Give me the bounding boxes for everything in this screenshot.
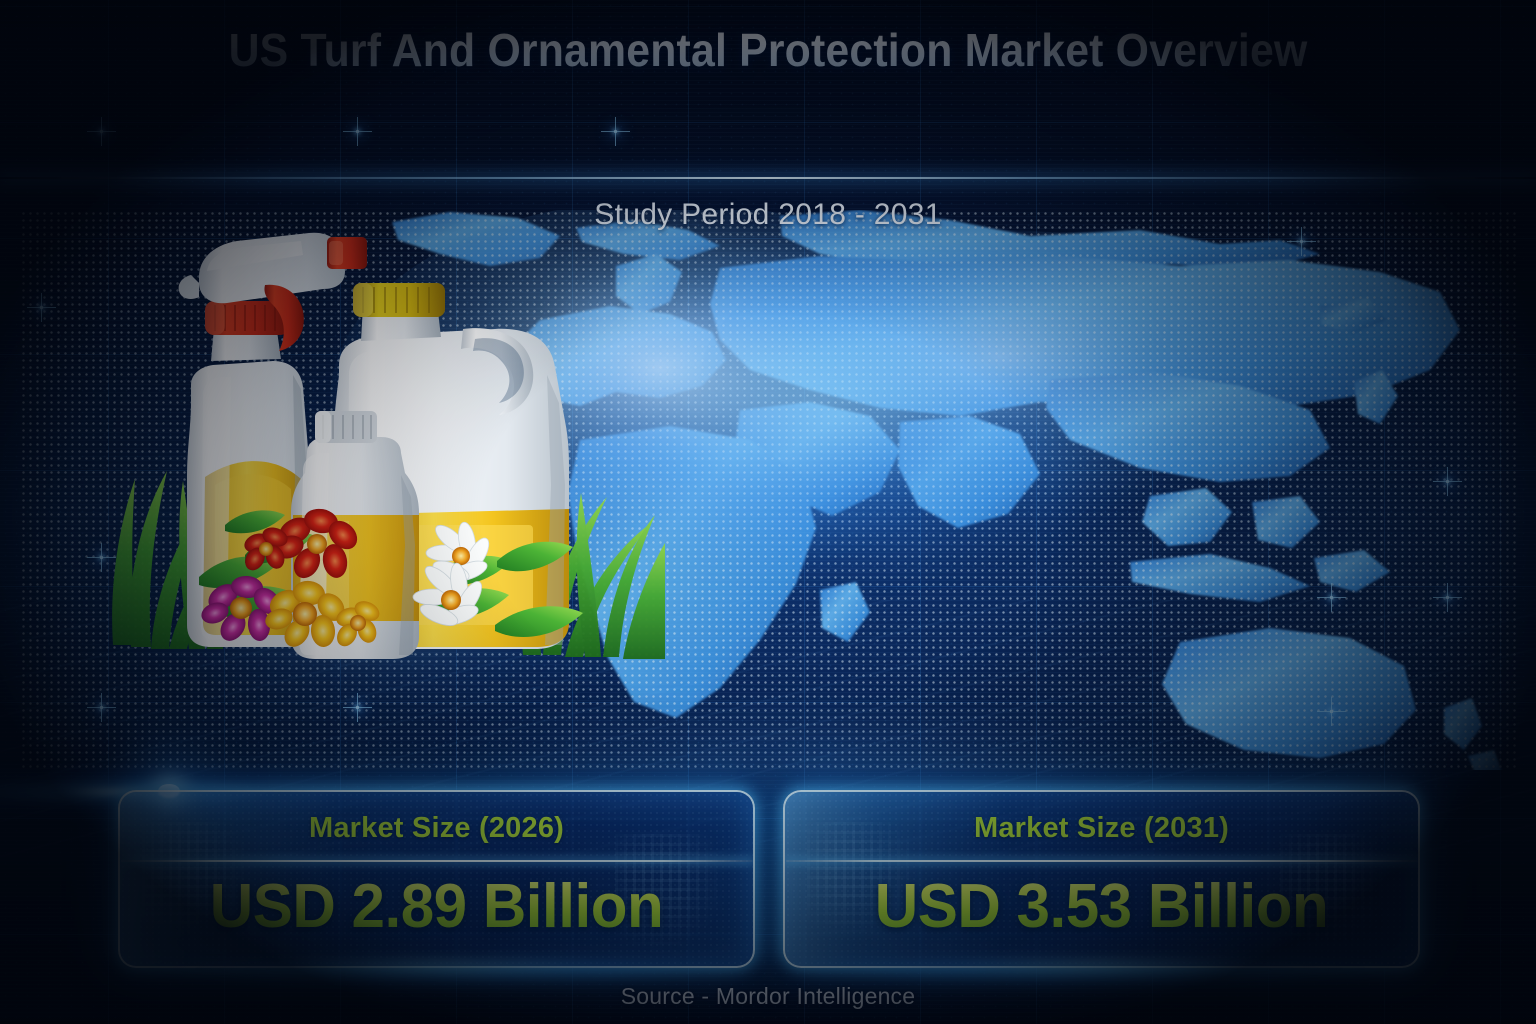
star-point [100,130,103,133]
card-divider [786,860,1417,862]
infographic-canvas: US Turf And Ornamental Protection Market… [0,0,1536,1024]
page-title: US Turf And Ornamental Protection Market… [54,24,1482,77]
stat-value-2031: USD 3.53 Billion [794,871,1408,942]
star-point [356,130,359,133]
star-point [1300,240,1303,243]
star-point [1446,596,1449,599]
star-point [1330,710,1333,713]
star-point [40,306,43,309]
stat-value-2026: USD 2.89 Billion [129,871,743,942]
star-point [100,706,103,709]
star-point [614,130,617,133]
stat-label-2031: Market Size (2031) [785,812,1418,845]
star-point [1330,596,1333,599]
stat-card-2026[interactable]: Market Size (2026) USD 2.89 Billion [118,790,755,968]
stat-card-2031[interactable]: Market Size (2031) USD 3.53 Billion [783,790,1420,968]
source-attribution: Source - Mordor Intelligence [0,983,1536,1010]
stat-cards-row: Market Size (2026) USD 2.89 Billion Mark… [118,790,1420,968]
card-divider [121,860,752,862]
stat-label-2026: Market Size (2026) [120,812,753,845]
product-illustration [95,225,665,670]
header-divider [0,177,1536,179]
star-point [1446,480,1449,483]
